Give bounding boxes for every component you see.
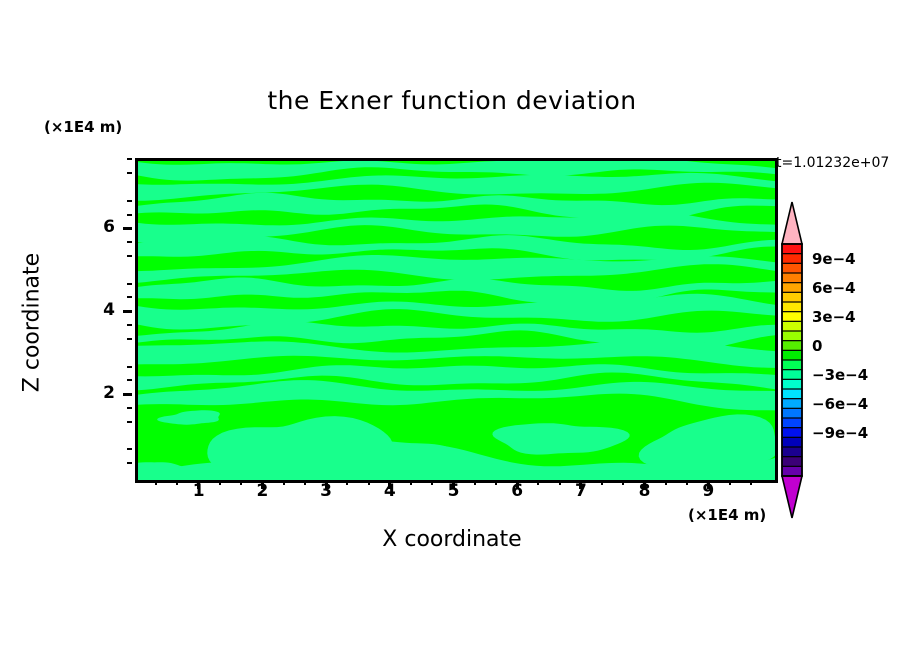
y-tick-minor — [127, 172, 132, 174]
y-tick-major — [123, 393, 132, 396]
y-tick-minor — [127, 379, 132, 381]
y-tick-minor — [127, 324, 132, 326]
x-tick-minor — [729, 480, 731, 485]
y-tick-minor — [127, 296, 132, 298]
y-tick-minor — [127, 200, 132, 202]
x-tick-label: 8 — [625, 481, 665, 501]
x-tick-minor — [601, 480, 603, 485]
x-tick-minor — [431, 480, 433, 485]
y-tick-minor — [127, 448, 132, 450]
y-tick-minor — [127, 366, 132, 368]
y-tick-minor — [127, 241, 132, 243]
colorbar-tick-label: −6e−4 — [812, 395, 868, 413]
x-tick-label: 5 — [434, 481, 474, 501]
x-tick-minor — [750, 480, 752, 485]
y-tick-minor — [127, 255, 132, 257]
x-tick-label: 2 — [242, 481, 282, 501]
colorbar-tick-label: 3e−4 — [812, 308, 856, 326]
x-tick-minor — [559, 480, 561, 485]
y-tick-minor — [127, 338, 132, 340]
y-tick-label: 4 — [89, 300, 115, 320]
x-tick-minor — [219, 480, 221, 485]
colorbar-tick-label: 9e−4 — [812, 250, 856, 268]
x-tick-minor — [240, 480, 242, 485]
y-tick-minor — [127, 158, 132, 160]
x-tick-minor — [283, 480, 285, 485]
y-tick-major — [123, 227, 132, 230]
y-tick-major — [123, 310, 132, 313]
y-tick-minor — [127, 214, 132, 216]
x-tick-label: 3 — [306, 481, 346, 501]
x-axis-title: X coordinate — [0, 527, 904, 552]
x-tick-minor — [368, 480, 370, 485]
y-tick-minor — [127, 421, 132, 423]
x-tick-minor — [622, 480, 624, 485]
x-tick-minor — [686, 480, 688, 485]
contour-plot-area[interactable] — [135, 158, 778, 483]
colorbar[interactable]: 9e−46e−43e−40−3e−4−6e−4−9e−4 — [778, 200, 904, 520]
colorbar-tick-label: 0 — [812, 337, 822, 355]
y-tick-label: 2 — [89, 383, 115, 403]
y-tick-minor — [127, 283, 132, 285]
y-tick-label: 6 — [89, 217, 115, 237]
x-tick-label: 6 — [497, 481, 537, 501]
x-tick-minor — [474, 480, 476, 485]
x-tick-minor — [176, 480, 178, 485]
y-axis-unit-label: (×1E4 m) — [44, 118, 122, 136]
y-tick-minor — [127, 407, 132, 409]
figure-canvas: the Exner function deviation (×1E4 m) t=… — [0, 0, 904, 654]
timestamp-annotation: t=1.01232e+07 — [776, 155, 904, 171]
x-tick-minor — [304, 480, 306, 485]
contour-field — [138, 161, 775, 480]
x-tick-minor — [155, 480, 157, 485]
colorbar-tick-label: −9e−4 — [812, 424, 868, 442]
page-title: the Exner function deviation — [0, 86, 904, 115]
x-axis-unit-label: (×1E4 m) — [688, 506, 766, 524]
x-tick-minor — [495, 480, 497, 485]
x-tick-minor — [410, 480, 412, 485]
y-tick-minor — [127, 462, 132, 464]
colorbar-tick-label: −3e−4 — [812, 366, 868, 384]
x-tick-minor — [537, 480, 539, 485]
x-tick-label: 7 — [561, 481, 601, 501]
y-axis-title: Z coordinate — [20, 233, 45, 413]
x-tick-label: 1 — [179, 481, 219, 501]
x-tick-minor — [665, 480, 667, 485]
x-tick-label: 4 — [370, 481, 410, 501]
x-tick-minor — [346, 480, 348, 485]
x-tick-label: 9 — [688, 481, 728, 501]
colorbar-tick-label: 6e−4 — [812, 279, 856, 297]
colorbar-gradient — [778, 200, 818, 520]
